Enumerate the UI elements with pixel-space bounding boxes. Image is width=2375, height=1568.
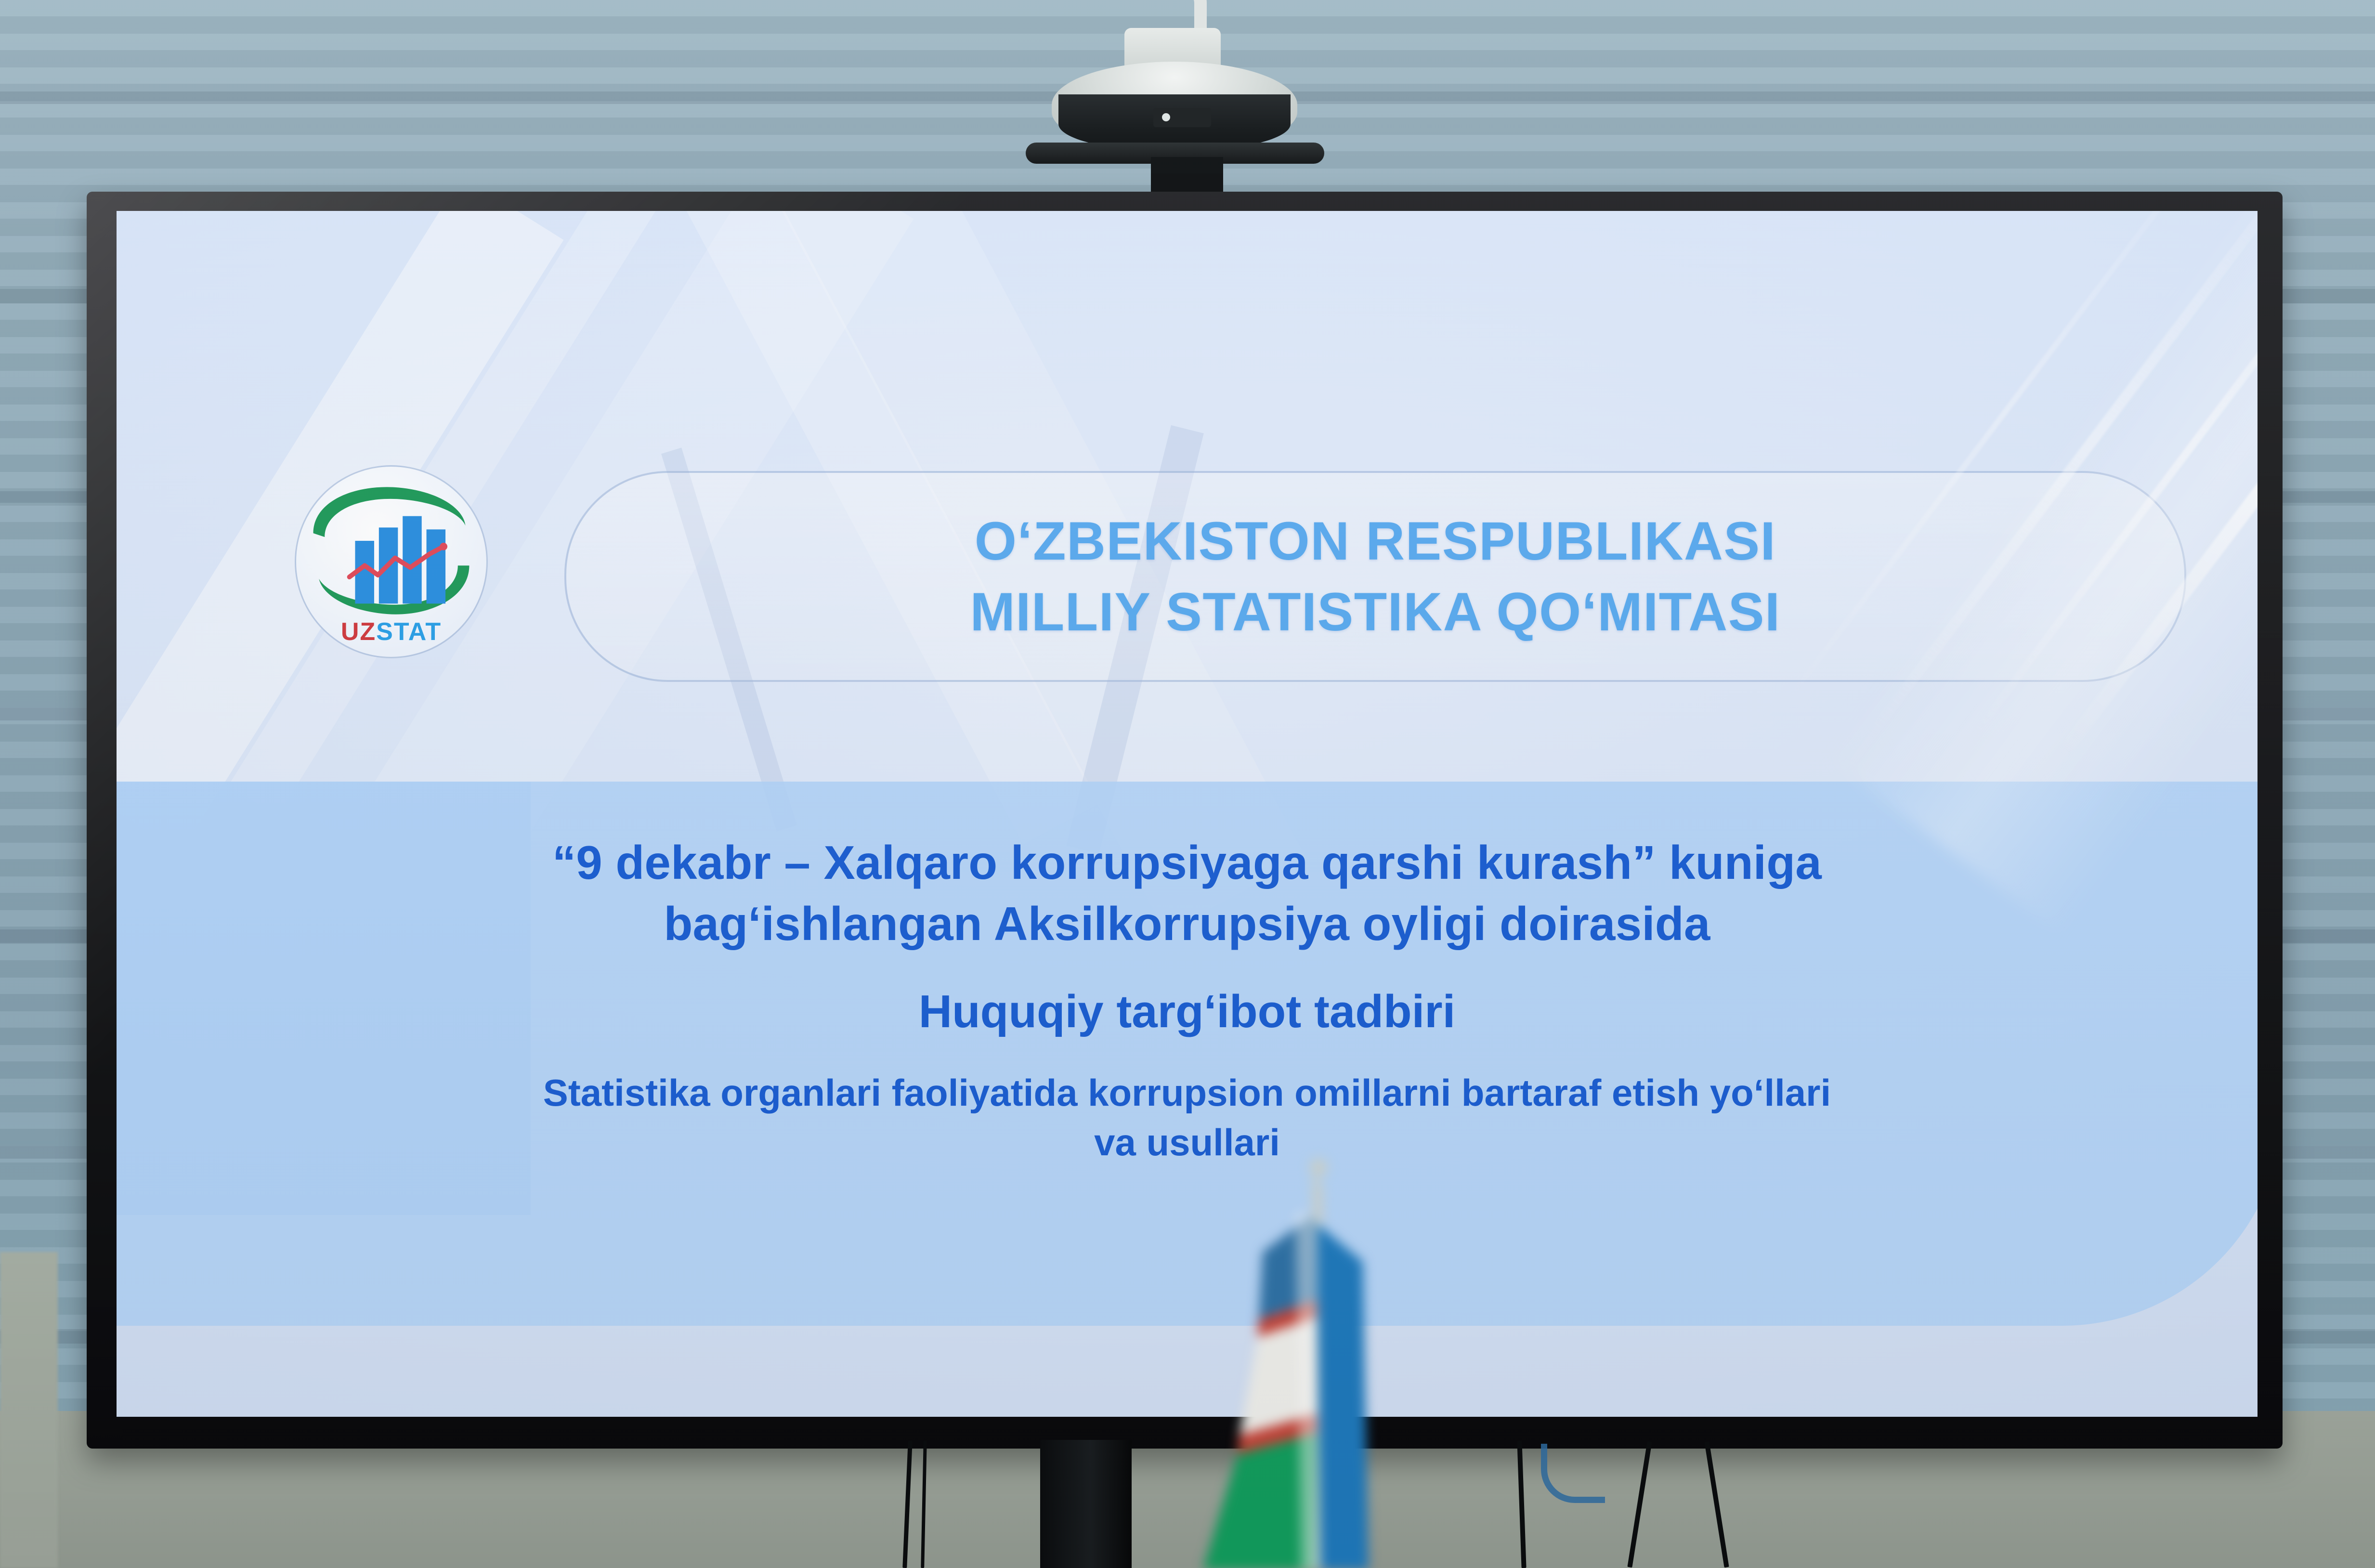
flag-graphic bbox=[1170, 1156, 1392, 1568]
slide-body-text: “9 dekabr – Xalqaro korrupsiyaga qarshi … bbox=[117, 832, 2258, 1167]
logo-uz-text: UZ bbox=[341, 618, 376, 646]
event-subtitle: Huquqiy targ‘ibot tadbiri bbox=[919, 982, 1456, 1042]
ptz-camera bbox=[1045, 0, 1363, 202]
logo-wordmark: UZSTAT bbox=[296, 619, 486, 644]
logo-stat-text: STAT bbox=[376, 618, 442, 646]
title-line-2: bag‘ishlangan Aksilkorrupsiya oyligi doi… bbox=[664, 893, 1710, 954]
camera-brand-badge bbox=[1153, 108, 1211, 127]
wall-lower-left-patch bbox=[0, 1252, 58, 1568]
detail-line-1: Statistika organlari faoliyatida korrups… bbox=[543, 1068, 1831, 1118]
uzstat-logo: UZSTAT bbox=[295, 465, 488, 658]
header-line-2: MILLIY STATISTIKA QO‘MITASI bbox=[970, 578, 1780, 646]
uzbekistan-flag bbox=[1170, 1156, 1392, 1568]
title-line-1: “9 dekabr – Xalqaro korrupsiyaga qarshi … bbox=[552, 832, 1822, 893]
screenshot-root: UZSTAT O‘ZBEKISTON RESPUBLIKASI MILLIY S… bbox=[0, 0, 2375, 1568]
detail-block: Statistika organlari faoliyatida korrups… bbox=[543, 1068, 1831, 1167]
tv-stand-column bbox=[1040, 1440, 1132, 1568]
header-line-1: O‘ZBEKISTON RESPUBLIKASI bbox=[975, 507, 1776, 575]
